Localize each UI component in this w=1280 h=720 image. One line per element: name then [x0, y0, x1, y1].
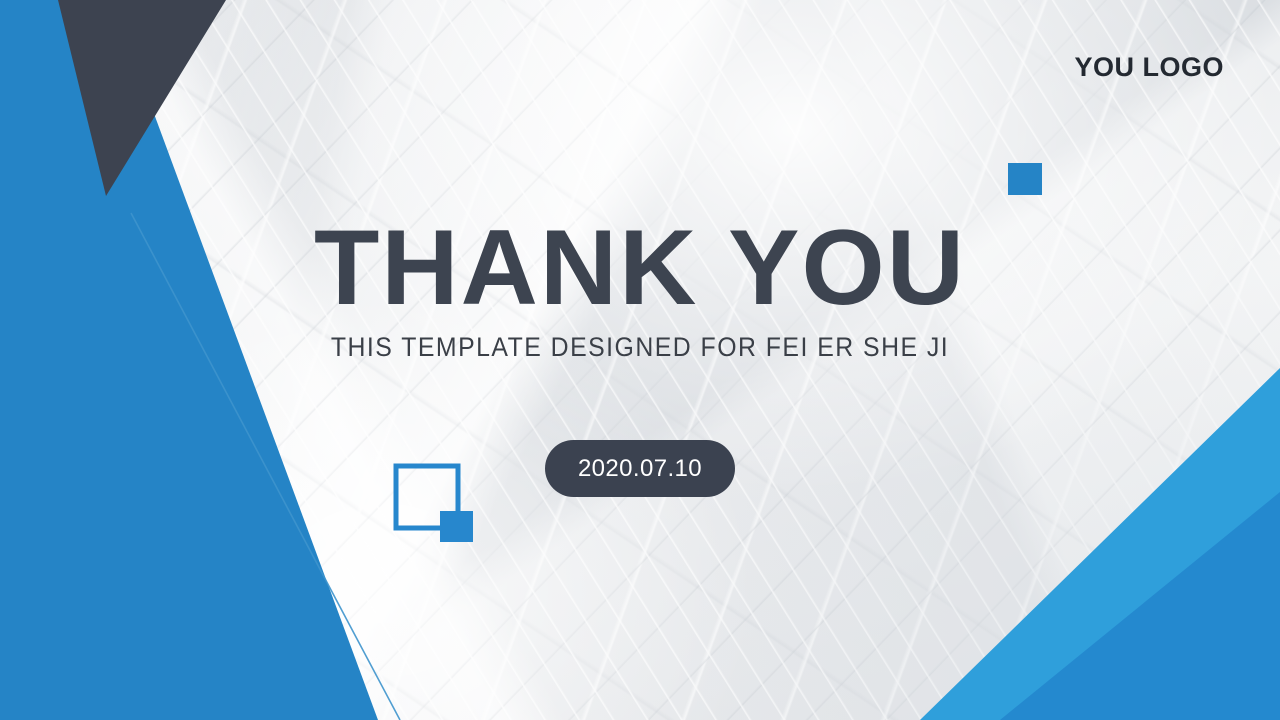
logo-text: YOU LOGO [1074, 52, 1224, 83]
slide-canvas: YOU LOGO THANK YOU THIS TEMPLATE DESIGNE… [0, 0, 1280, 720]
page-subtitle: THIS TEMPLATE DESIGNED FOR FEI ER SHE JI [51, 332, 1229, 363]
page-title: THANK YOU [0, 212, 1280, 322]
top-right-blue-square [1008, 163, 1042, 195]
date-badge-label: 2020.07.10 [578, 455, 702, 483]
small-filled-blue-square [440, 511, 473, 542]
date-badge: 2020.07.10 [545, 440, 735, 497]
